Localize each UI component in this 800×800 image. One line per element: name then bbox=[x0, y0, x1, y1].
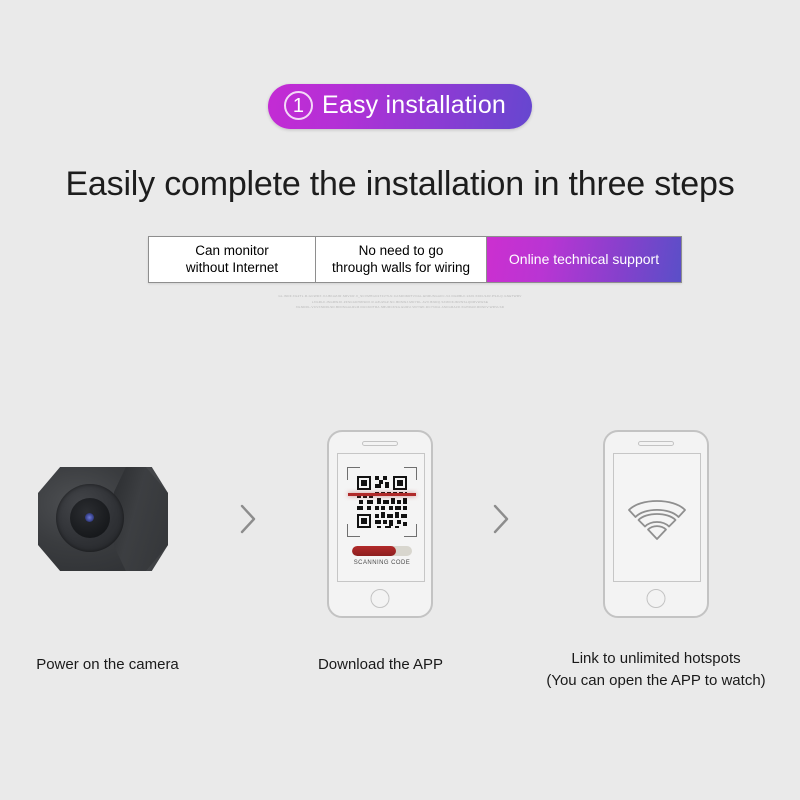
feature-line-2: without Internet bbox=[186, 260, 278, 275]
feature-line-2: through walls for wiring bbox=[332, 260, 470, 275]
scan-progress-fill bbox=[352, 546, 396, 556]
step-caption-download-app: Download the APP bbox=[278, 654, 483, 676]
chevron-right-icon bbox=[488, 502, 514, 536]
qr-code-icon bbox=[355, 474, 409, 530]
fine-print-line: XGNDRL-VCVXSDRLSD.BFDSGALRLM.DUCKDTRA.SB… bbox=[0, 305, 800, 311]
qr-scan-frame bbox=[347, 467, 417, 537]
phone-home-button bbox=[371, 589, 390, 608]
page-title: Easily complete the installation in thre… bbox=[0, 165, 800, 204]
phone-screen-qr: SCANNING CODE bbox=[337, 453, 425, 582]
feature-box-monitor: Can monitor without Internet bbox=[149, 237, 316, 282]
caption-line-1: Link to unlimited hotspots bbox=[571, 650, 740, 667]
feature-line-1: Online technical support bbox=[509, 251, 659, 269]
step-caption-power-on: Power on the camera bbox=[0, 654, 215, 676]
wifi-icon bbox=[626, 493, 688, 543]
scan-progress-bar bbox=[352, 546, 412, 556]
feature-line-1: Can monitor bbox=[195, 243, 269, 258]
caption-line-2: (You can open the APP to watch) bbox=[546, 672, 765, 689]
phone-speaker bbox=[362, 441, 398, 446]
step-badge-label: Easy installation bbox=[322, 91, 506, 120]
feature-box-support: Online technical support bbox=[487, 237, 681, 282]
phone-speaker bbox=[638, 441, 674, 446]
mini-camera-image bbox=[30, 462, 182, 580]
phone-qr-scan: SCANNING CODE bbox=[327, 430, 433, 618]
step-captions-row: Power on the camera Download the APP Lin… bbox=[0, 648, 800, 708]
step-badge: 1 Easy installation bbox=[268, 84, 532, 129]
step-visual-row: SCANNING CODE bbox=[0, 430, 800, 635]
steps-section: SCANNING CODE bbox=[0, 430, 800, 635]
step-badge-number: 1 bbox=[284, 91, 313, 120]
feature-box-row: Can monitor without Internet No need to … bbox=[148, 236, 682, 283]
feature-line-1: No need to go bbox=[359, 243, 444, 258]
phone-home-button bbox=[647, 589, 666, 608]
chevron-right-icon bbox=[235, 502, 261, 536]
camera-lens-glint bbox=[85, 513, 94, 522]
phone-wifi bbox=[603, 430, 709, 618]
scan-status-label: SCANNING CODE bbox=[338, 560, 426, 566]
step-caption-link-hotspot: Link to unlimited hotspots (You can open… bbox=[516, 648, 796, 692]
feature-box-wiring: No need to go through walls for wiring bbox=[316, 237, 487, 282]
step-badge-container: 1 Easy installation bbox=[0, 84, 800, 129]
promo-page: 1 Easy installation Easily complete the … bbox=[0, 0, 800, 800]
caption-line-1: Power on the camera bbox=[36, 656, 179, 673]
qr-scan-line bbox=[348, 493, 416, 496]
fine-print-block: GL.WDF.XG2TL.R-GCWDX.XJ-BKAZJR.SRVCR.X_S… bbox=[0, 294, 800, 311]
caption-line-1: Download the APP bbox=[318, 656, 443, 673]
phone-screen-wifi bbox=[613, 453, 701, 582]
